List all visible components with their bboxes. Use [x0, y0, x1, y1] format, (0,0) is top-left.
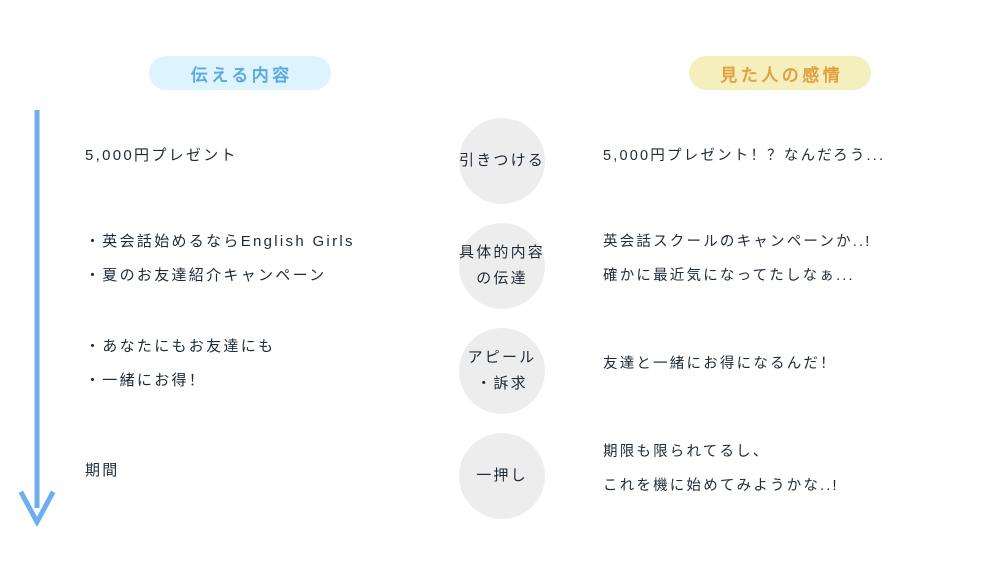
- message-line: ・一緒にお得！: [85, 364, 435, 398]
- stage-circle: 一押し: [459, 433, 545, 519]
- column-header-badge-emotion: 見た人の感情: [689, 56, 871, 90]
- emotion-line: 英会話スクールのキャンペーンか..!: [603, 225, 993, 259]
- diagram-canvas: 伝える内容 見た人の感情 5,000円プレゼント 引きつける 5,000円プレゼ…: [0, 0, 1000, 570]
- stage-circle-line: 具体的内容: [459, 240, 545, 266]
- message-text-block: 期間: [85, 454, 435, 488]
- stage-circle-line: の伝達: [476, 266, 528, 292]
- stage-circle-line: 一押し: [476, 463, 528, 489]
- emotion-line: これを機に始めてみようかな..!: [603, 469, 993, 503]
- stage-circle: 具体的内容 の伝達: [459, 223, 545, 309]
- emotion-line: 友達と一緒にお得になるんだ！: [603, 347, 993, 381]
- stage-circle: アピール ・訴求: [459, 328, 545, 414]
- emotion-text-block: 友達と一緒にお得になるんだ！: [603, 347, 993, 381]
- message-line: ・夏のお友達紹介キャンペーン: [85, 259, 435, 293]
- message-line: 5,000円プレゼント: [85, 139, 435, 173]
- emotion-line: 確かに最近気になってたしなぁ...: [603, 259, 993, 293]
- stage-circle-line: ・訴求: [476, 371, 528, 397]
- emotion-text-block: 英会話スクールのキャンペーンか..! 確かに最近気になってたしなぁ...: [603, 225, 993, 293]
- message-line: ・英会話始めるならEnglish Girls: [85, 225, 435, 259]
- message-text-block: ・英会話始めるならEnglish Girls ・夏のお友達紹介キャンペーン: [85, 225, 435, 293]
- emotion-line: 期限も限られてるし、: [603, 435, 993, 469]
- emotion-text-block: 5,000円プレゼント！？なんだろう...: [603, 139, 993, 173]
- emotion-text-block: 期限も限られてるし、 これを機に始めてみようかな..!: [603, 435, 993, 503]
- column-header-label-message: 伝える内容: [187, 61, 293, 86]
- stage-circle-line: アピール: [468, 345, 537, 371]
- downward-flow-arrow: [18, 110, 58, 526]
- message-text-block: 5,000円プレゼント: [85, 139, 435, 173]
- emotion-line: 5,000円プレゼント！？なんだろう...: [603, 139, 993, 173]
- column-header-badge-message: 伝える内容: [149, 56, 331, 90]
- column-header-label-emotion: 見た人の感情: [717, 61, 844, 86]
- message-text-block: ・あなたにもお友達にも ・一緒にお得！: [85, 330, 435, 398]
- message-line: 期間: [85, 454, 435, 488]
- stage-circle-line: 引きつける: [459, 148, 545, 174]
- stage-circle: 引きつける: [459, 118, 545, 204]
- message-line: ・あなたにもお友達にも: [85, 330, 435, 364]
